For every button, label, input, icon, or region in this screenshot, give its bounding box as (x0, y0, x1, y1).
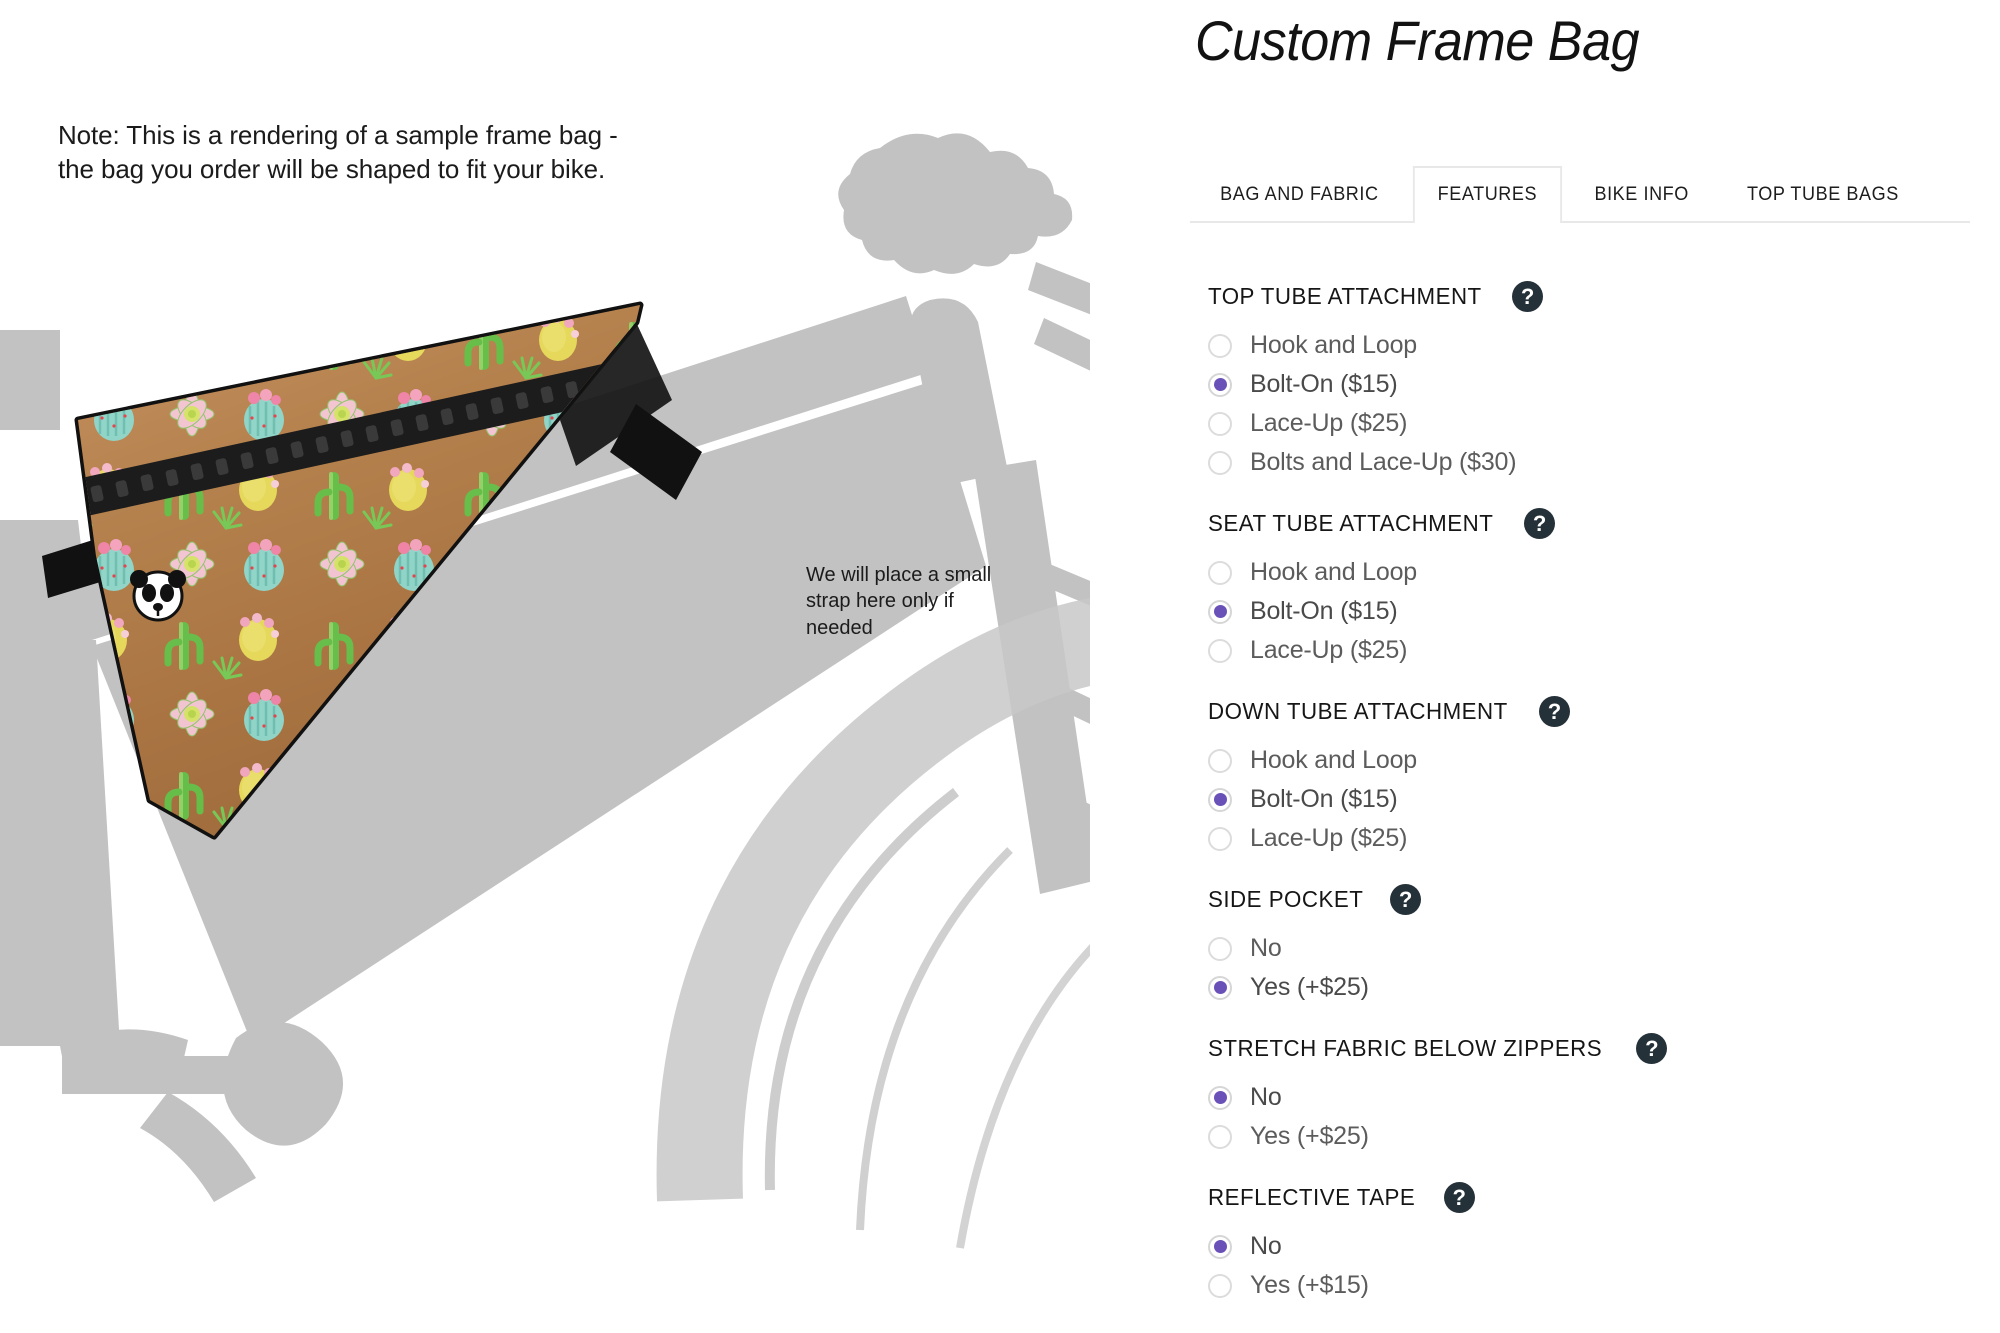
frame-bag-configurator-page: Note: This is a rendering of a sample fr… (0, 0, 2000, 1333)
group-title-stretch-fabric-below-zippers: STRETCH FABRIC BELOW ZIPPERS (1208, 1035, 1602, 1062)
option-label: Bolt-On ($15) (1250, 785, 1397, 814)
option-group-seat-tube-attachment: SEAT TUBE ATTACHMENT?Hook and LoopBolt-O… (1190, 508, 1990, 670)
tab-features[interactable]: FEATURES (1413, 166, 1562, 223)
help-icon-stretch-fabric-below-zippers[interactable]: ? (1636, 1033, 1667, 1064)
group-header-stretch-fabric-below-zippers: STRETCH FABRIC BELOW ZIPPERS? (1208, 1033, 1990, 1064)
option-label: Yes (+$25) (1250, 973, 1369, 1002)
option-seat-tube-attachment-0[interactable]: Hook and Loop (1190, 553, 1990, 592)
radio-icon[interactable] (1208, 561, 1232, 585)
group-title-down-tube-attachment: DOWN TUBE ATTACHMENT (1208, 698, 1508, 725)
group-header-seat-tube-attachment: SEAT TUBE ATTACHMENT? (1208, 508, 1990, 539)
option-top-tube-attachment-3[interactable]: Bolts and Lace-Up ($30) (1190, 443, 1990, 482)
option-label: Bolt-On ($15) (1250, 597, 1397, 626)
option-group-down-tube-attachment: DOWN TUBE ATTACHMENT?Hook and LoopBolt-O… (1190, 696, 1990, 858)
group-header-top-tube-attachment: TOP TUBE ATTACHMENT? (1208, 281, 1990, 312)
option-top-tube-attachment-0[interactable]: Hook and Loop (1190, 326, 1990, 365)
group-title-seat-tube-attachment: SEAT TUBE ATTACHMENT (1208, 510, 1493, 537)
option-label: Yes (+$15) (1250, 1271, 1369, 1300)
tab-bar: BAG AND FABRICFEATURESBIKE INFOTOP TUBE … (1190, 168, 1970, 223)
option-label: Bolt-On ($15) (1250, 370, 1397, 399)
option-side-pocket-0[interactable]: No (1190, 929, 1990, 968)
help-icon-down-tube-attachment[interactable]: ? (1539, 696, 1570, 727)
note-line-2: the bag you order will be shaped to fit … (58, 152, 758, 186)
radio-icon[interactable] (1208, 1235, 1232, 1259)
page-title: Custom Frame Bag (1195, 8, 1639, 73)
radio-icon[interactable] (1208, 827, 1232, 851)
sample-rendering-note: Note: This is a rendering of a sample fr… (58, 118, 758, 187)
option-label: Yes (+$25) (1250, 1122, 1369, 1151)
option-group-side-pocket: SIDE POCKET?NoYes (+$25) (1190, 884, 1990, 1007)
help-icon-seat-tube-attachment[interactable]: ? (1524, 508, 1555, 539)
option-reflective-tape-1[interactable]: Yes (+$15) (1190, 1266, 1990, 1305)
group-header-down-tube-attachment: DOWN TUBE ATTACHMENT? (1208, 696, 1990, 727)
help-icon-top-tube-attachment[interactable]: ? (1512, 281, 1543, 312)
configurator-pane: Custom Frame Bag BAG AND FABRICFEATURESB… (1090, 0, 2000, 1333)
radio-icon[interactable] (1208, 600, 1232, 624)
strap-note-line-1: We will place a small (806, 562, 1021, 588)
strap-note-line-3: needed (806, 615, 1021, 641)
option-seat-tube-attachment-2[interactable]: Lace-Up ($25) (1190, 631, 1990, 670)
option-stretch-fabric-below-zippers-1[interactable]: Yes (+$25) (1190, 1117, 1990, 1156)
radio-icon[interactable] (1208, 749, 1232, 773)
option-label: Lace-Up ($25) (1250, 409, 1407, 438)
option-reflective-tape-0[interactable]: No (1190, 1227, 1990, 1266)
option-group-stretch-fabric-below-zippers: STRETCH FABRIC BELOW ZIPPERS?NoYes (+$25… (1190, 1033, 1990, 1156)
group-title-top-tube-attachment: TOP TUBE ATTACHMENT (1208, 283, 1482, 310)
option-label: Bolts and Lace-Up ($30) (1250, 448, 1516, 477)
radio-icon[interactable] (1208, 334, 1232, 358)
option-top-tube-attachment-2[interactable]: Lace-Up ($25) (1190, 404, 1990, 443)
option-side-pocket-1[interactable]: Yes (+$25) (1190, 968, 1990, 1007)
option-label: Lace-Up ($25) (1250, 824, 1407, 853)
strap-placement-note: We will place a small strap here only if… (806, 562, 1021, 641)
tab-bike-info[interactable]: BIKE INFO (1569, 166, 1713, 221)
radio-icon[interactable] (1208, 1086, 1232, 1110)
radio-icon[interactable] (1208, 788, 1232, 812)
option-top-tube-attachment-1[interactable]: Bolt-On ($15) (1190, 365, 1990, 404)
radio-icon[interactable] (1208, 1125, 1232, 1149)
radio-icon[interactable] (1208, 976, 1232, 1000)
group-title-reflective-tape: REFLECTIVE TAPE (1208, 1184, 1415, 1211)
option-label: Hook and Loop (1250, 746, 1417, 775)
tab-bag-and-fabric[interactable]: BAG AND FABRIC (1195, 166, 1403, 221)
bag-preview-pane: Note: This is a rendering of a sample fr… (0, 0, 1090, 1333)
note-line-1: Note: This is a rendering of a sample fr… (58, 118, 758, 152)
option-down-tube-attachment-0[interactable]: Hook and Loop (1190, 741, 1990, 780)
help-icon-side-pocket[interactable]: ? (1390, 884, 1421, 915)
option-down-tube-attachment-1[interactable]: Bolt-On ($15) (1190, 780, 1990, 819)
option-label: No (1250, 1083, 1282, 1112)
option-label: Hook and Loop (1250, 558, 1417, 587)
radio-icon[interactable] (1208, 1274, 1232, 1298)
group-header-side-pocket: SIDE POCKET? (1208, 884, 1990, 915)
radio-icon[interactable] (1208, 412, 1232, 436)
radio-icon[interactable] (1208, 451, 1232, 475)
frame-bag-rendering (0, 0, 1090, 1333)
option-label: No (1250, 1232, 1282, 1261)
option-group-top-tube-attachment: TOP TUBE ATTACHMENT?Hook and LoopBolt-On… (1190, 281, 1990, 482)
option-seat-tube-attachment-1[interactable]: Bolt-On ($15) (1190, 592, 1990, 631)
help-icon-reflective-tape[interactable]: ? (1444, 1182, 1475, 1213)
radio-icon[interactable] (1208, 373, 1232, 397)
radio-icon[interactable] (1208, 937, 1232, 961)
tab-top-tube-bags[interactable]: TOP TUBE BAGS (1722, 166, 1923, 221)
option-label: Hook and Loop (1250, 331, 1417, 360)
options-list: TOP TUBE ATTACHMENT?Hook and LoopBolt-On… (1190, 255, 1990, 1309)
option-down-tube-attachment-2[interactable]: Lace-Up ($25) (1190, 819, 1990, 858)
radio-icon[interactable] (1208, 639, 1232, 663)
option-group-reflective-tape: REFLECTIVE TAPE?NoYes (+$15) (1190, 1182, 1990, 1305)
option-label: No (1250, 934, 1282, 963)
group-header-reflective-tape: REFLECTIVE TAPE? (1208, 1182, 1990, 1213)
strap-note-line-2: strap here only if (806, 588, 1021, 614)
option-label: Lace-Up ($25) (1250, 636, 1407, 665)
group-title-side-pocket: SIDE POCKET (1208, 886, 1363, 913)
option-stretch-fabric-below-zippers-0[interactable]: No (1190, 1078, 1990, 1117)
